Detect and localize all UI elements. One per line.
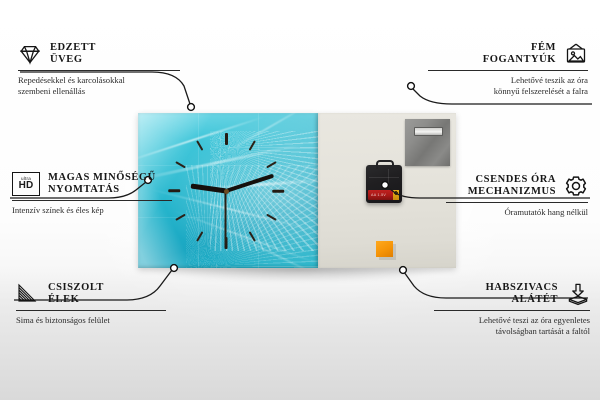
callout-title-line1: HABSZIVACS — [486, 282, 558, 294]
callout-description: Lehetővé teszi az óra egyenletes távolsá… — [434, 315, 590, 338]
product-shadow — [150, 266, 450, 282]
callout-tempered-glass[interactable]: EDZETT ÜVEG Repedésekkel és karcolásokka… — [18, 42, 180, 98]
callout-header: ultra HD MAGAS MINŐSÉGŰ NYOMTATÁS — [12, 172, 172, 196]
callout-polished-edges[interactable]: CSISZOLT ÉLEK Sima és biztonságos felüle… — [16, 282, 166, 326]
callout-titles: MAGAS MINŐSÉGŰ NYOMTATÁS — [48, 172, 156, 196]
polished-edge-icon — [16, 282, 40, 306]
callout-rule — [428, 70, 588, 71]
callout-header: CSISZOLT ÉLEK — [16, 282, 166, 306]
callout-rule — [16, 310, 166, 311]
clock-tick — [272, 190, 284, 193]
clock-tick — [196, 231, 203, 242]
callout-high-quality-print[interactable]: ultra HD MAGAS MINŐSÉGŰ NYOMTATÁS Intenz… — [12, 172, 172, 216]
callout-title-line2: ALÁTÉT — [512, 294, 558, 306]
callout-header: HABSZIVACS ALÁTÉT — [434, 282, 590, 306]
callout-description: Lehetővé teszik az óra könnyű felszerelé… — [428, 75, 588, 98]
mechanism-seam — [388, 169, 389, 187]
callout-title-line1: EDZETT — [50, 42, 96, 54]
callout-title-line1: CSISZOLT — [48, 282, 104, 294]
clock-minute-hand — [225, 174, 274, 193]
clock-tick — [225, 133, 228, 145]
callout-description: Sima és biztonságos felület — [16, 315, 166, 326]
clock-center-hub — [224, 189, 229, 194]
diamond-icon — [18, 42, 42, 66]
connector-dot-tempered-glass — [188, 104, 195, 111]
callout-title-line2: MECHANIZMUS — [468, 186, 556, 198]
callout-title-line2: FOGANTYÚK — [483, 54, 556, 66]
clock-tick — [249, 231, 256, 242]
callout-title-line1: CSENDES ÓRA — [476, 174, 556, 186]
battery: AA 1.5V — [368, 190, 399, 200]
callout-titles: EDZETT ÜVEG — [50, 42, 96, 66]
clock-tick — [249, 140, 256, 151]
callout-rule — [446, 202, 588, 203]
callout-title-line2: ÉLEK — [48, 294, 104, 306]
battery-label: AA 1.5V — [371, 193, 386, 197]
clock-tick — [266, 214, 277, 221]
mechanism-hook — [376, 160, 394, 169]
mechanism-seam — [369, 177, 399, 178]
ultra-hd-icon-main-text: HD — [19, 181, 34, 191]
callout-silent-mechanism[interactable]: CSENDES ÓRA MECHANIZMUS Óramutatók hang … — [446, 174, 588, 218]
hanger-slot — [414, 127, 443, 136]
callout-title-line1: MAGAS MINŐSÉGŰ — [48, 172, 156, 184]
callout-metal-handles[interactable]: FÉM FOGANTYÚK Lehetővé teszik az óra kön… — [428, 42, 588, 98]
callout-description: Intenzív színek és éles kép — [12, 205, 172, 216]
clock-tick — [175, 161, 186, 168]
wall-mount-frame-icon — [564, 42, 588, 66]
gear-icon — [564, 174, 588, 198]
clock-tick — [266, 161, 277, 168]
callout-description: Repedésekkel és karcolásokkal szembeni e… — [18, 75, 180, 98]
callout-titles: CSENDES ÓRA MECHANIZMUS — [468, 174, 556, 198]
callout-title-line1: FÉM — [531, 42, 556, 54]
callout-description: Óramutatók hang nélkül — [446, 207, 588, 218]
callout-header: CSENDES ÓRA MECHANIZMUS — [446, 174, 588, 198]
callout-foam-pad[interactable]: HABSZIVACS ALÁTÉT Lehetővé teszi az óra … — [434, 282, 590, 338]
clock-face — [160, 125, 292, 257]
clock-back-panel: AA 1.5V — [318, 113, 456, 268]
clock-tick — [196, 140, 203, 151]
callout-header: EDZETT ÜVEG — [18, 42, 180, 66]
product-image: AA 1.5V — [138, 113, 456, 268]
callout-header: FÉM FOGANTYÚK — [428, 42, 588, 66]
clock-hour-hand — [190, 184, 226, 194]
ultra-hd-icon: ultra HD — [12, 172, 40, 196]
clock-tick — [175, 214, 186, 221]
callout-titles: FÉM FOGANTYÚK — [483, 42, 556, 66]
battery-plus-sign — [394, 192, 398, 194]
callout-title-line2: ÜVEG — [50, 54, 96, 66]
callout-titles: CSISZOLT ÉLEK — [48, 282, 104, 306]
infographic-canvas: AA 1.5V — [0, 0, 600, 400]
callout-rule — [12, 200, 172, 201]
foam-pad-arrow-icon — [566, 282, 590, 306]
clock-mechanism-box: AA 1.5V — [366, 165, 402, 203]
callout-rule — [18, 70, 180, 71]
callout-titles: HABSZIVACS ALÁTÉT — [486, 282, 558, 306]
callout-rule — [434, 310, 590, 311]
foam-spacer-pad — [376, 241, 393, 257]
connector-dot-metal-handles — [408, 83, 415, 90]
callout-title-line2: NYOMTATÁS — [48, 184, 156, 196]
metal-hanger-plate — [405, 119, 450, 166]
